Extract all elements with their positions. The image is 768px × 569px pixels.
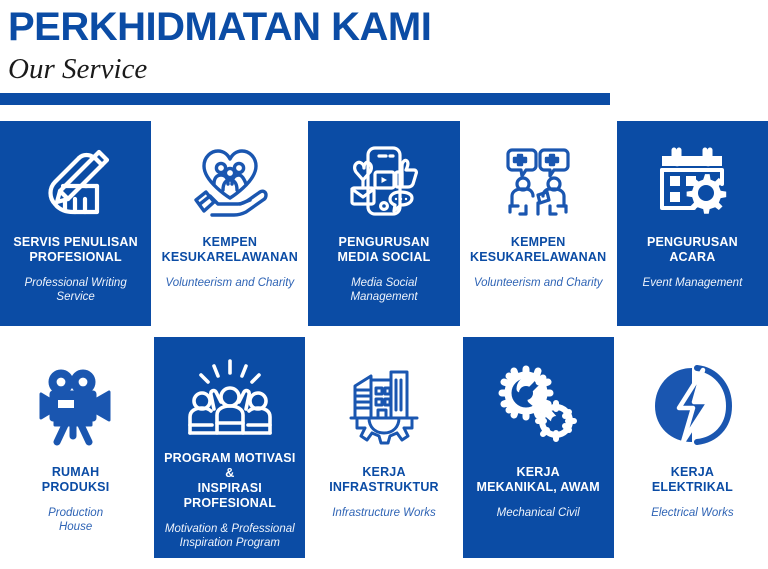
service-card-title: KERJA INFRASTRUKTUR — [329, 465, 439, 495]
lightning-bolt-icon — [649, 355, 735, 455]
service-card-kempen-kesukarelawanan-1[interactable]: KEMPEN KESUKARELAWANAN Volunteerism and … — [154, 121, 305, 326]
smartphone-social-icon — [342, 139, 426, 225]
service-card-title: PROGRAM MOTIVASI & INSPIRASI PROFESIONAL — [160, 451, 299, 511]
hand-heart-people-icon — [188, 139, 272, 225]
page-header: PERKHIDMATAN KAMI Our Service — [0, 0, 768, 86]
service-card-kerja-infrastruktur[interactable]: KERJA INFRASTRUKTUR Infrastructure Works — [308, 337, 459, 558]
two-people-puzzle-chat-icon — [496, 139, 580, 225]
film-camera-icon — [33, 355, 119, 455]
service-card-title: KEMPEN KESUKARELAWANAN — [162, 235, 298, 265]
service-card-description: Media Social Management — [350, 276, 417, 304]
service-card-title: PENGURUSAN MEDIA SOCIAL — [338, 235, 431, 265]
service-card-title: KEMPEN KESUKARELAWANAN — [470, 235, 606, 265]
service-card-rumah-produksi[interactable]: RUMAH PRODUKSI Production House — [0, 337, 151, 558]
page-title: PERKHIDMATAN KAMI — [8, 4, 768, 50]
three-people-celebrate-icon — [184, 355, 276, 441]
service-card-description: Professional Writing Service — [6, 276, 145, 304]
services-grid: SERVIS PENULISAN PROFESIONAL Professiona… — [0, 121, 768, 558]
calendar-gear-icon — [650, 139, 734, 225]
service-card-program-motivasi-inspirasi-profesional[interactable]: PROGRAM MOTIVASI & INSPIRASI PROFESIONAL… — [154, 337, 305, 558]
service-card-description: Motivation & Professional Inspiration Pr… — [165, 522, 295, 550]
service-card-kerja-mekanikal-awam[interactable]: KERJA MEKANIKAL, AWAM Mechanical Civil — [463, 337, 614, 558]
service-card-title: SERVIS PENULISAN PROFESIONAL — [13, 235, 138, 265]
service-card-description: Volunteerism and Charity — [474, 276, 603, 290]
service-card-kempen-kesukarelawanan-2[interactable]: KEMPEN KESUKARELAWANAN Volunteerism and … — [463, 121, 614, 326]
service-card-title: KERJA ELEKTRIKAL — [652, 465, 733, 495]
service-card-description: Production House — [48, 506, 103, 534]
service-card-kerja-elektrikal[interactable]: KERJA ELEKTRIKAL Electrical Works — [617, 337, 768, 558]
service-card-description: Mechanical Civil — [497, 506, 580, 520]
service-card-title: RUMAH PRODUKSI — [42, 465, 110, 495]
service-card-title: KERJA MEKANIKAL, AWAM — [477, 465, 600, 495]
service-card-servis-penulisan-profesional[interactable]: SERVIS PENULISAN PROFESIONAL Professiona… — [0, 121, 151, 326]
service-card-pengurusan-acara[interactable]: PENGURUSAN ACARA Event Management — [617, 121, 768, 326]
service-card-description: Electrical Works — [651, 506, 733, 520]
service-card-description: Infrastructure Works — [332, 506, 436, 520]
service-card-pengurusan-media-social[interactable]: PENGURUSAN MEDIA SOCIAL Media Social Man… — [308, 121, 459, 326]
hand-writing-pencil-icon — [35, 139, 117, 225]
buildings-gear-icon — [341, 355, 427, 455]
services-row-2: RUMAH PRODUKSI Production House — [0, 337, 768, 558]
service-card-title: PENGURUSAN ACARA — [647, 235, 738, 265]
service-card-description: Volunteerism and Charity — [165, 276, 294, 290]
page-subtitle: Our Service — [8, 52, 768, 86]
services-row-1: SERVIS PENULISAN PROFESIONAL Professiona… — [0, 121, 768, 326]
service-card-description: Event Management — [643, 276, 743, 290]
header-accent-bar — [0, 93, 610, 105]
gears-wrench-icon — [494, 355, 582, 455]
